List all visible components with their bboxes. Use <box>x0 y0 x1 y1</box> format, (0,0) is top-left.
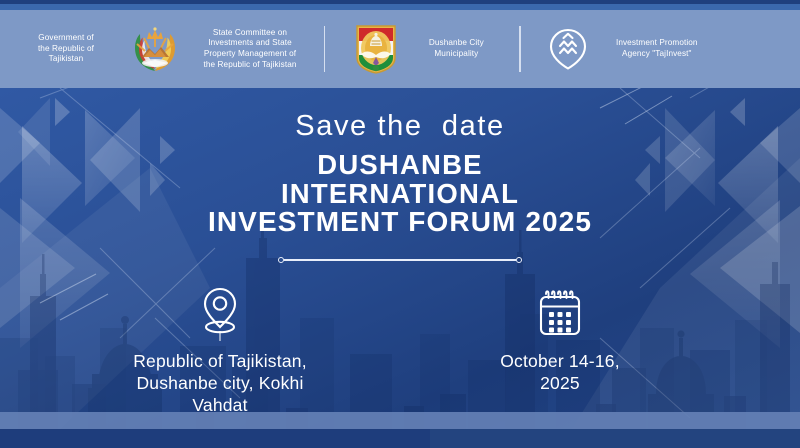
partner-government-line1: Government of <box>14 33 118 44</box>
top-accent-strip-dark <box>0 0 800 4</box>
date-block: October 14-16, 2025 <box>470 282 650 394</box>
partner-state-committee-line4: the Republic of Tajikistan <box>190 60 310 71</box>
partner-tajinvest-label: Investment Promotion Agency "TajInvest" <box>597 38 717 59</box>
location-pin-icon <box>100 282 340 344</box>
tajikistan-emblem-icon <box>128 23 182 75</box>
poster-content: Save the date DUSHANBE INTERNATIONAL INV… <box>0 88 800 448</box>
partner-dushanbe: Dushanbe City Municipality <box>339 24 505 74</box>
partner-government-line3: Tajikistan <box>14 54 118 65</box>
date-line-1: October 14-16, <box>470 350 650 372</box>
title-line-2: INTERNATIONAL <box>0 180 800 209</box>
location-line-3: Vahdat <box>100 394 340 416</box>
location-block: Republic of Tajikistan, Dushanbe city, K… <box>100 282 340 416</box>
partner-state-committee: State Committee on Investments and State… <box>182 28 310 70</box>
partner-dushanbe-line2: Municipality <box>407 49 505 60</box>
header-divider-1 <box>324 26 325 72</box>
calendar-icon <box>470 282 650 344</box>
title-line-1: DUSHANBE <box>0 151 800 180</box>
title-line-3: INVESTMENT FORUM 2025 <box>0 208 800 237</box>
partner-dushanbe-label: Dushanbe City Municipality <box>407 38 505 59</box>
date-line-2: 2025 <box>470 372 650 394</box>
partner-tajinvest-line1: Investment Promotion <box>597 38 717 49</box>
tajinvest-pin-logo-icon <box>547 27 589 71</box>
partner-government-line2: the Republic of <box>14 44 118 55</box>
partner-state-committee-line1: State Committee on <box>190 28 310 39</box>
location-line-1: Republic of Tajikistan, <box>100 350 340 372</box>
divider-dot-right <box>516 257 522 263</box>
divider-line <box>284 259 516 261</box>
location-line-2: Dushanbe city, Kokhi <box>100 372 340 394</box>
partner-tajinvest: Investment Promotion Agency "TajInvest" <box>535 27 717 71</box>
partner-header-bar: Government of the Republic of Tajikistan <box>0 10 800 88</box>
partner-government-label: Government of the Republic of Tajikistan <box>14 33 118 65</box>
partner-government: Government of the Republic of Tajikistan <box>14 23 182 75</box>
date-text: October 14-16, 2025 <box>470 350 650 394</box>
save-the-date-kicker: Save the date <box>0 110 800 143</box>
partner-dushanbe-line1: Dushanbe City <box>407 38 505 49</box>
partner-state-committee-line2: Investments and State <box>190 38 310 49</box>
dushanbe-coat-of-arms-icon <box>355 24 397 74</box>
poster-root: Government of the Republic of Tajikistan <box>0 0 800 448</box>
partner-state-committee-line3: Property Management of <box>190 49 310 60</box>
title-divider <box>0 254 800 266</box>
location-text: Republic of Tajikistan, Dushanbe city, K… <box>100 350 340 416</box>
partner-tajinvest-line2: Agency "TajInvest" <box>597 49 717 60</box>
partner-state-committee-label: State Committee on Investments and State… <box>190 28 310 70</box>
header-divider-2 <box>519 26 520 72</box>
page-title: DUSHANBE INTERNATIONAL INVESTMENT FORUM … <box>0 151 800 237</box>
